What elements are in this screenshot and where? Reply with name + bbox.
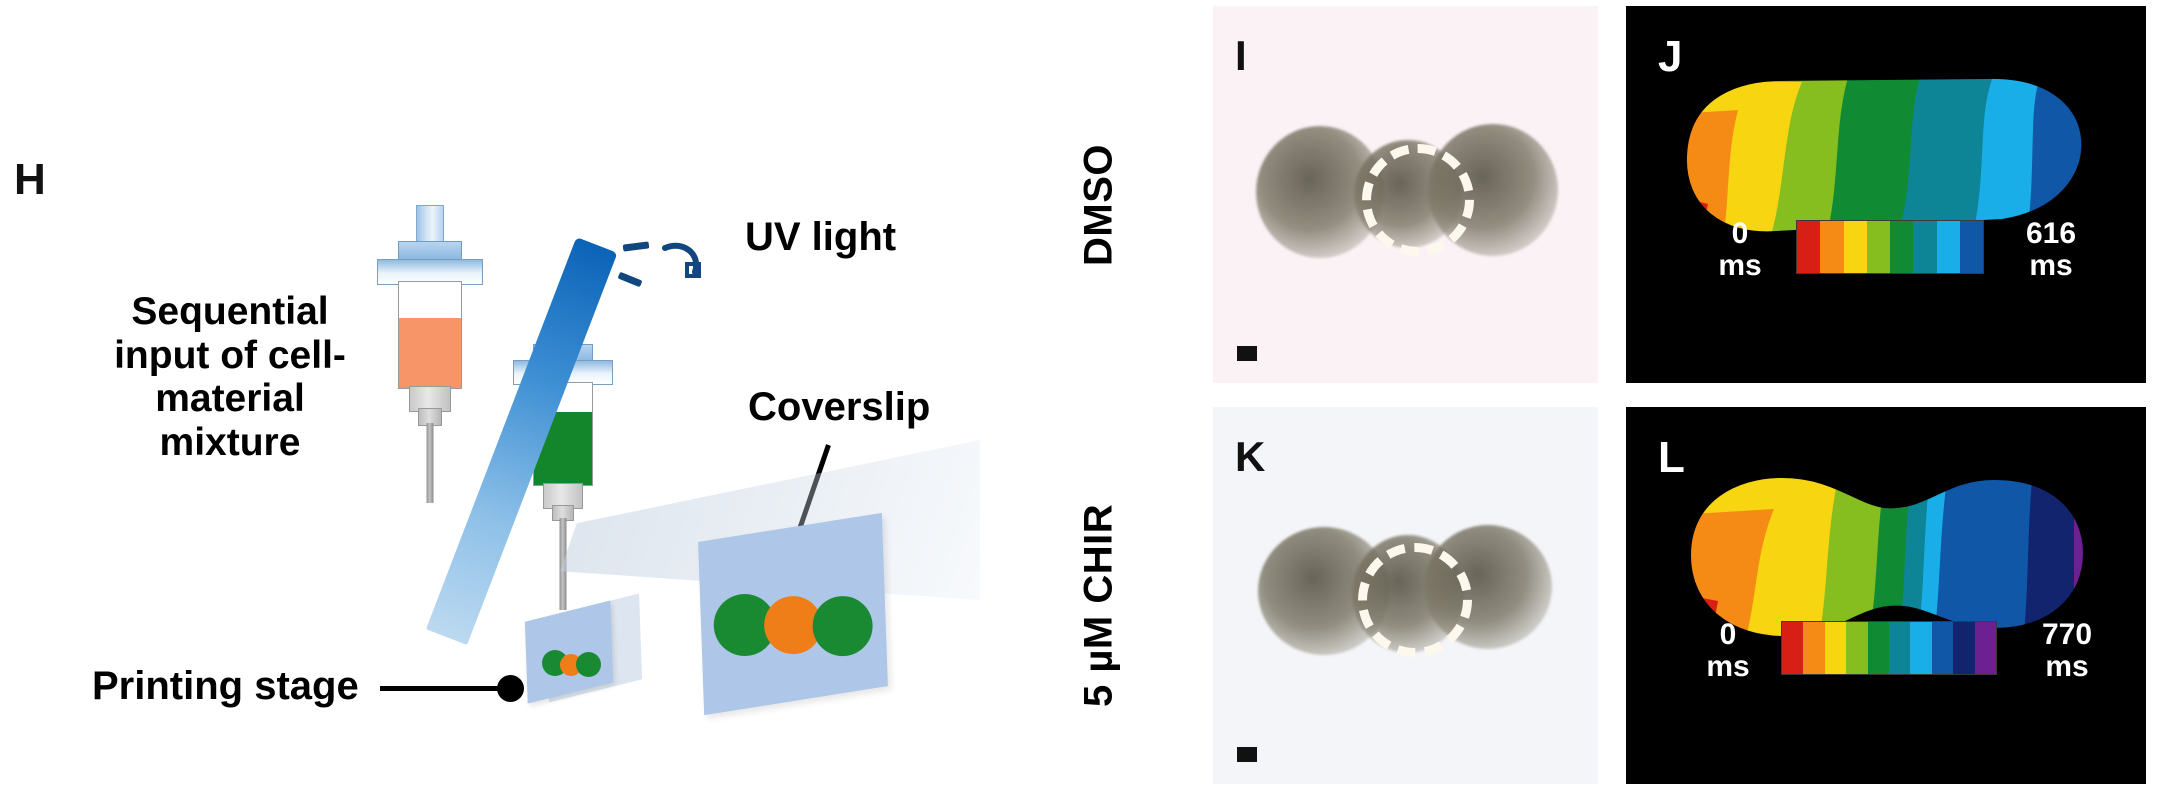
label-coverslip: Coverslip [748, 385, 930, 430]
panel-h-schematic: H Sequential input of cell-material mixt… [0, 0, 1200, 800]
colorbar-low-label-j: 0 ms [1700, 218, 1780, 281]
colorbar-segment [1868, 622, 1889, 674]
printed-cell-green [809, 593, 876, 660]
panel-i-brightfield-dmso: I [1213, 6, 1598, 383]
roi-dashed-circle [1362, 144, 1474, 256]
colorbar-segment [1890, 221, 1913, 273]
panel-letter-k: K [1235, 433, 1265, 481]
colorbar-segment [1803, 622, 1824, 674]
leader-dot-printing-stage [497, 675, 524, 702]
panel-l-isochrone-chir: L 0 ms [1626, 407, 2146, 784]
isochrone-map-j [1626, 6, 2146, 383]
syringe-fill-orange [399, 318, 461, 388]
colorbar-segment [1889, 622, 1910, 674]
colorbar-segment [1825, 622, 1846, 674]
colorbar-segment [1846, 622, 1867, 674]
colorbar-segment [1953, 622, 1974, 674]
colorbar-segment [1913, 221, 1936, 273]
colorbar-segment [1797, 221, 1820, 273]
colorbar-segment [1975, 622, 1996, 674]
uv-emitter-icon [655, 236, 711, 292]
colorbar-high-label-l: 770 ms [2006, 619, 2128, 682]
colorbar-segment [1932, 622, 1953, 674]
panel-k-brightfield-chir: K [1213, 407, 1598, 784]
colorbar-segment [1910, 622, 1931, 674]
printed-cell-green [576, 652, 601, 677]
scale-bar [1237, 747, 1257, 762]
tissue-construct-image [1256, 521, 1556, 671]
row-label-dmso: DMSO [1073, 60, 1125, 350]
isochrone-map-l [1626, 407, 2146, 784]
syringe-barrel [398, 281, 462, 389]
colorbar-l [1781, 621, 1997, 675]
syringe-orange [375, 205, 485, 495]
uv-lamp-head-icon [655, 236, 711, 292]
panel-j-isochrone-dmso: J 0 ms [1626, 6, 2146, 383]
colorbar-segment [1960, 221, 1983, 273]
colorbar-j [1796, 220, 1984, 274]
tissue-construct-image [1256, 120, 1556, 270]
roi-dashed-circle [1358, 543, 1472, 657]
colorbar-segment [1844, 221, 1867, 273]
row-label-chir: 5 µM CHIR [1073, 440, 1125, 770]
colorbar-segment [1782, 622, 1803, 674]
syringe-needle [427, 423, 434, 503]
colorbar-segment [1937, 221, 1960, 273]
label-printing-stage: Printing stage [92, 664, 359, 709]
colorbar-low-label-l: 0 ms [1688, 619, 1768, 682]
figure-root: H Sequential input of cell-material mixt… [0, 0, 2160, 800]
scale-bar [1237, 346, 1257, 361]
uv-spark-icon [623, 241, 650, 251]
colorbar-high-label-j: 616 ms [1992, 218, 2110, 281]
leader-line-printing-stage [380, 686, 510, 691]
uv-spark-icon [618, 272, 643, 287]
colorbar-segment [1867, 221, 1890, 273]
label-uv-light: UV light [745, 215, 896, 260]
label-sequential-input: Sequential input of cell-material mixtur… [95, 290, 365, 465]
panel-letter-h: H [14, 158, 46, 202]
panel-letter-i: I [1235, 32, 1247, 80]
colorbar-segment [1820, 221, 1843, 273]
